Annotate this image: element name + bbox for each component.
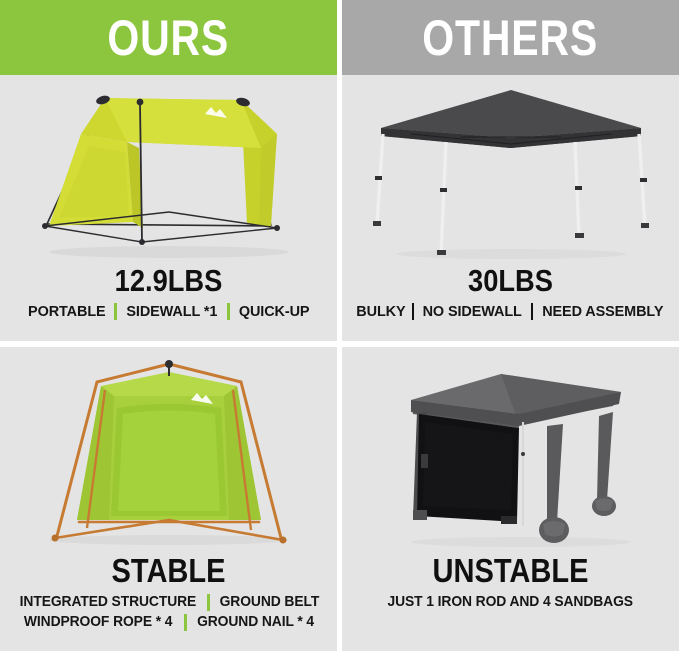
caption-bottom-left: STABLE INTEGRATED STRUCTURE GROUND BELT … bbox=[0, 554, 337, 631]
sandbag-weight bbox=[539, 517, 569, 543]
green-canopy-sidewall-image bbox=[0, 75, 337, 265]
feature-separator-icon bbox=[531, 303, 533, 320]
feature-item: SIDEWALL *1 bbox=[127, 303, 218, 320]
features-top-right: BULKY NO SIDEWALL NEED ASSEMBLY bbox=[346, 303, 675, 320]
panel-top-right: 30LBS BULKY NO SIDEWALL NEED ASSEMBLY bbox=[342, 75, 679, 341]
gray-pop-up-canopy-illustration bbox=[351, 76, 671, 264]
feature-item: GROUND NAIL * 4 bbox=[197, 614, 314, 630]
headline-weight-ours: 12.9LBS bbox=[24, 265, 314, 298]
header-others: OTHERS bbox=[342, 0, 679, 75]
feature-separator-icon bbox=[227, 303, 230, 320]
headline-weight-others: 30LBS bbox=[366, 265, 656, 298]
caption-bottom-right: UNSTABLE JUST 1 IRON ROD AND 4 SANDBAGS bbox=[342, 554, 679, 610]
gray-canopy-image bbox=[342, 75, 679, 265]
green-tent-front-image bbox=[0, 347, 337, 552]
feature-item: JUST 1 IRON ROD AND 4 SANDBAGS bbox=[388, 594, 633, 610]
features-bottom-left-line1: INTEGRATED STRUCTURE GROUND BELT bbox=[4, 594, 333, 611]
feature-separator-icon bbox=[114, 303, 117, 320]
feature-item: QUICK-UP bbox=[239, 303, 310, 320]
features-bottom-left-line2: WINDPROOF ROPE * 4 GROUND NAIL * 4 bbox=[4, 614, 333, 631]
gray-canopy-sandbags-image bbox=[342, 347, 679, 552]
headline-stability-others: UNSTABLE bbox=[366, 554, 656, 589]
features-top-left: PORTABLE SIDEWALL *1 QUICK-UP bbox=[4, 303, 333, 320]
comparison-board: OURS OTHERS bbox=[0, 0, 679, 651]
feature-item: INTEGRATED STRUCTURE bbox=[19, 594, 196, 610]
feature-item: BULKY bbox=[356, 303, 405, 320]
gray-canopy-black-sidewall-illustration bbox=[351, 350, 671, 550]
header-ours-label: OURS bbox=[108, 13, 230, 63]
headline-stability-ours: STABLE bbox=[24, 554, 314, 589]
sandbag-weight bbox=[592, 496, 616, 516]
feature-item: WINDPROOF ROPE * 4 bbox=[24, 614, 173, 630]
feature-item: PORTABLE bbox=[28, 303, 106, 320]
feature-separator-icon bbox=[184, 614, 187, 631]
green-instant-canopy-with-sidewall-illustration bbox=[9, 76, 329, 264]
feature-item: GROUND BELT bbox=[220, 594, 320, 610]
panel-top-left: 12.9LBS PORTABLE SIDEWALL *1 QUICK-UP bbox=[0, 75, 337, 341]
feature-separator-icon bbox=[207, 594, 210, 611]
caption-top-right: 30LBS BULKY NO SIDEWALL NEED ASSEMBLY bbox=[342, 265, 679, 320]
feature-item: NEED ASSEMBLY bbox=[542, 303, 663, 320]
feature-item: NO SIDEWALL bbox=[423, 303, 522, 320]
panel-bottom-left: STABLE INTEGRATED STRUCTURE GROUND BELT … bbox=[0, 347, 337, 651]
header-others-label: OTHERS bbox=[423, 13, 599, 63]
green-tent-front-view-illustration bbox=[9, 350, 329, 550]
caption-top-left: 12.9LBS PORTABLE SIDEWALL *1 QUICK-UP bbox=[0, 265, 337, 320]
features-bottom-right: JUST 1 IRON ROD AND 4 SANDBAGS bbox=[346, 594, 675, 610]
panel-bottom-right: UNSTABLE JUST 1 IRON ROD AND 4 SANDBAGS bbox=[342, 347, 679, 651]
header-ours: OURS bbox=[0, 0, 337, 75]
feature-separator-icon bbox=[412, 303, 414, 320]
